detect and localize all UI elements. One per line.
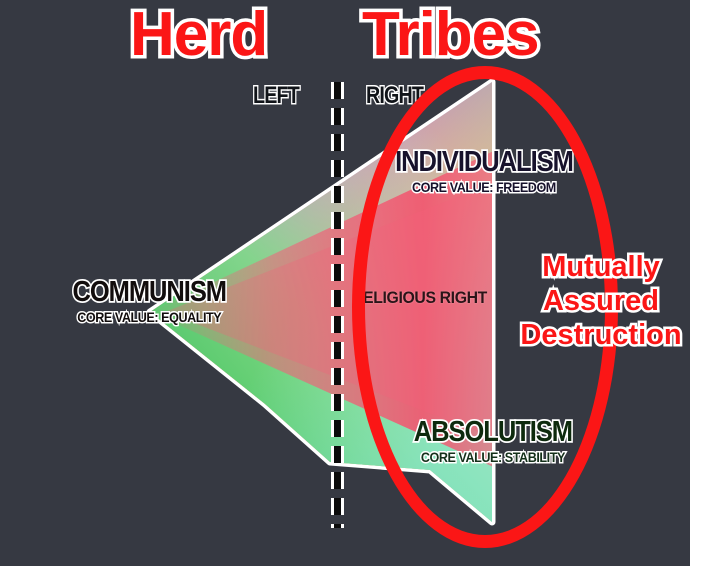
left-right-divider <box>331 80 344 530</box>
meme-annotation-mad: Mutually Assured Destruction <box>498 250 704 353</box>
mad-line-2: Assured <box>498 284 704 318</box>
corner-subtitle-communism: CORE VALUE: EQUALITY <box>71 310 228 324</box>
mad-line-3: Destruction <box>498 318 704 352</box>
meme-canvas: LEFT RIGHT INDIVIDUALISM CORE VALUE: FRE… <box>0 0 708 566</box>
corner-label-communism: COMMUNISM CORE VALUE: EQUALITY <box>62 278 236 324</box>
image-edge-strip <box>690 0 708 566</box>
meme-caption-tribes: Tribes <box>362 4 539 66</box>
meme-caption-herd: Herd <box>130 4 267 66</box>
mad-line-1: Mutually <box>498 250 704 284</box>
corner-title-communism: COMMUNISM <box>72 278 226 308</box>
axis-label-left: LEFT <box>253 82 299 110</box>
